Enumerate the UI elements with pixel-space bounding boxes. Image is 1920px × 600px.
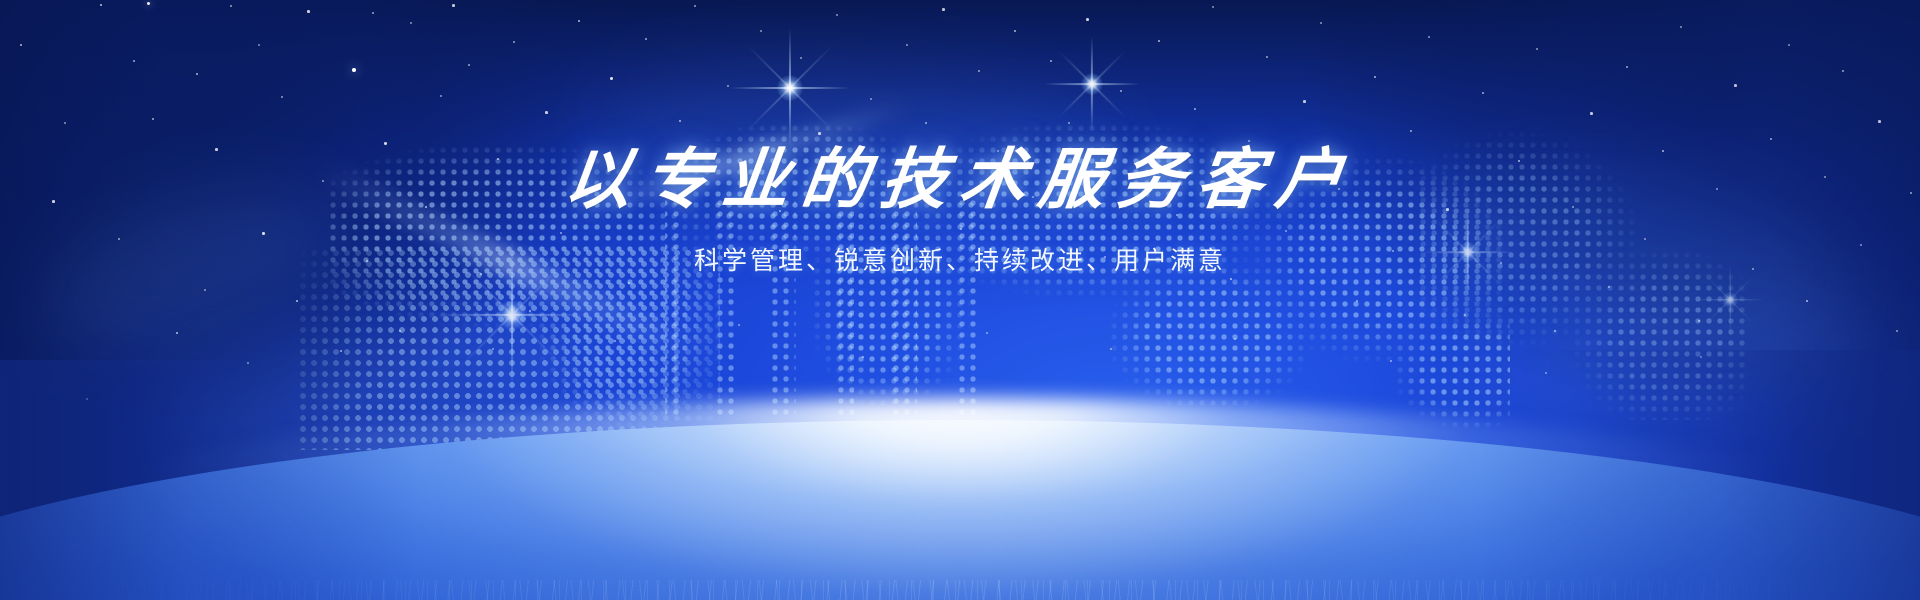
hero-banner: 以专业的技术服务客户 科学管理、锐意创新、持续改进、用户满意: [0, 0, 1920, 600]
